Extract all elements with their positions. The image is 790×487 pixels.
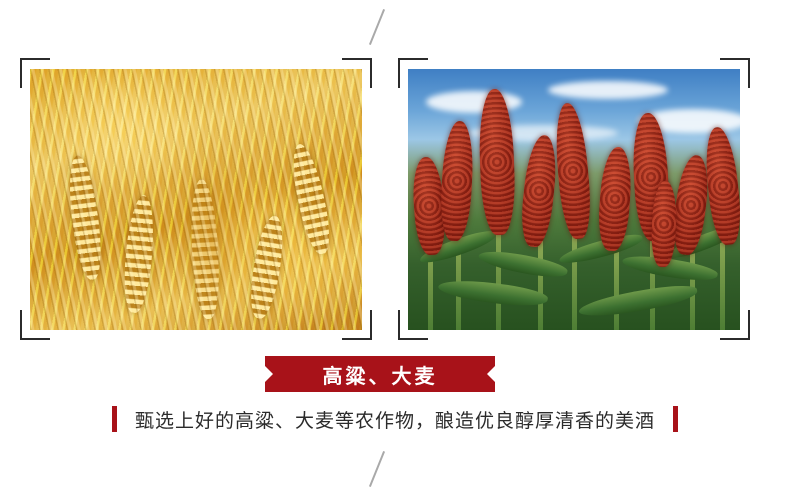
slash-decoration-top <box>369 9 385 45</box>
slash-decoration-bottom <box>369 451 385 487</box>
sorghum-leaf <box>477 246 569 282</box>
promo-page: 高粱、大麦 甄选上好的高粱、大麦等农作物，酿造优良醇厚清香的美酒 <box>0 0 790 486</box>
sorghum-field-image <box>408 69 740 330</box>
tick-mark-left-icon <box>112 406 117 432</box>
tick-mark-right-icon <box>673 406 678 432</box>
wheat-ear <box>121 194 157 314</box>
sorghum-panicle <box>552 102 594 240</box>
title-banner: 高粱、大麦 <box>265 356 495 392</box>
wheat-field-photo <box>30 69 362 330</box>
sorghum-panicle <box>702 126 740 246</box>
sorghum-stalk <box>538 239 543 330</box>
sorghum-leaf <box>437 275 549 310</box>
sorghum-panicle <box>477 88 516 235</box>
sorghum-stalk <box>614 241 619 330</box>
subtitle-row: 甄选上好的高粱、大麦等农作物，酿造优良醇厚清香的美酒 <box>0 403 790 435</box>
sorghum-field-photo <box>408 69 740 330</box>
banner-title: 高粱、大麦 <box>323 360 438 389</box>
sorghum-stalk <box>572 227 577 330</box>
cloud <box>548 81 668 99</box>
sorghum-stalk <box>720 233 725 330</box>
wheat-ear <box>188 178 221 319</box>
sorghum-leaf <box>577 282 699 321</box>
wheat-ear <box>64 154 105 281</box>
wheat-ear <box>287 142 336 257</box>
wheat-ear <box>246 214 288 321</box>
sorghum-photo-block <box>398 58 750 340</box>
sorghum-panicle <box>518 134 560 249</box>
sorghum-stalk <box>496 219 501 330</box>
sorghum-panicle <box>439 120 475 241</box>
wheat-photo-block <box>20 58 372 340</box>
wheat-field-image <box>30 69 362 330</box>
subtitle-text: 甄选上好的高粱、大麦等农作物，酿造优良醇厚清香的美酒 <box>135 406 655 433</box>
